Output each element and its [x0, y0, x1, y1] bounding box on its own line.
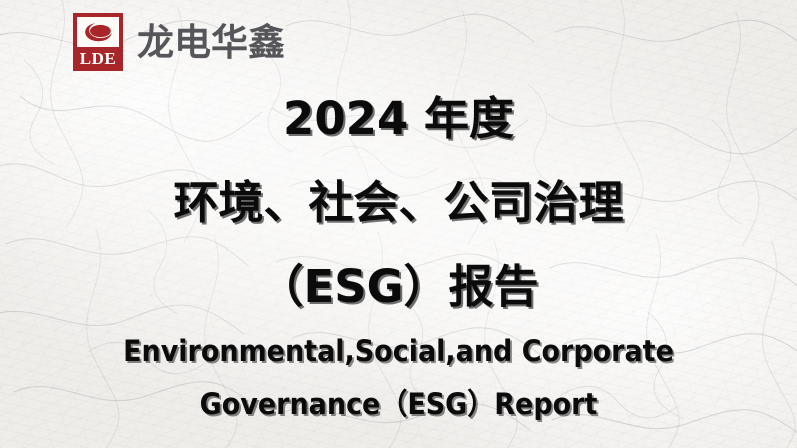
report-subtitle-line-1: Environmental,Social,and Corporate	[28, 337, 769, 366]
report-cover-page: LDE 龙电华鑫 2024 年度 环境、社会、公司治理 （ESG）报告 Envi…	[0, 0, 797, 448]
report-subtitle-line-2: Governance（ESG）Report	[28, 390, 769, 419]
report-title-year: 2024 年度	[0, 96, 797, 141]
logo-abbreviation: LDE	[80, 47, 116, 71]
brand-logo-block: LDE 龙电华鑫	[73, 13, 285, 71]
company-name: 龙电华鑫	[137, 24, 285, 61]
logo-swoosh-icon	[81, 21, 115, 43]
report-title-main: 环境、社会、公司治理	[0, 180, 797, 225]
report-title-esg: （ESG）报告	[0, 264, 797, 309]
lde-logo-icon: LDE	[73, 13, 123, 71]
logo-plate	[77, 17, 119, 47]
